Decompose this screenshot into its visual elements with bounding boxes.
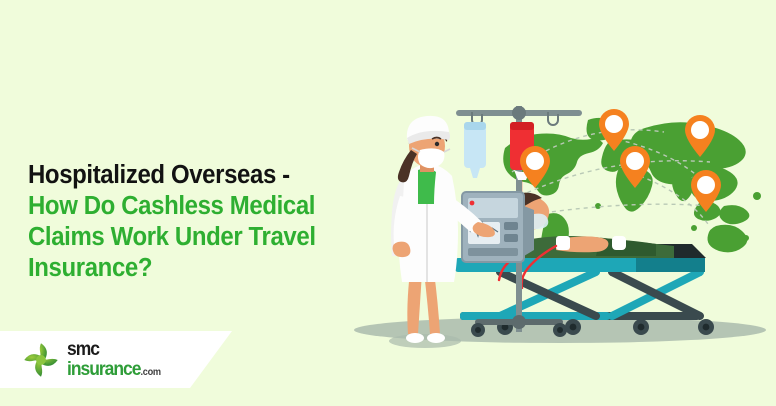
headline-line-4: Insurance? [28, 253, 348, 284]
logo-line-smc: smc [67, 340, 161, 359]
logo-wordmark: smc insurance.com [67, 340, 169, 381]
article-banner: Hospitalized Overseas - How Do Cashless … [0, 0, 776, 406]
iv-bag-saline [464, 122, 486, 178]
brand-logo[interactable]: smc insurance.com [22, 340, 169, 380]
headline-line-2: How Do Cashless Medical [28, 191, 348, 222]
doctor-shadow [389, 334, 461, 348]
page-title: Hospitalized Overseas - How Do Cashless … [28, 160, 368, 284]
headline-line-1: Hospitalized Overseas - [28, 160, 348, 191]
logo-tld: .com [140, 367, 160, 378]
headline-line-3: Claims Work Under Travel [28, 222, 348, 253]
smc-aperture-swirl-icon [22, 341, 60, 379]
logo-line-insurance: insurance [67, 359, 140, 380]
